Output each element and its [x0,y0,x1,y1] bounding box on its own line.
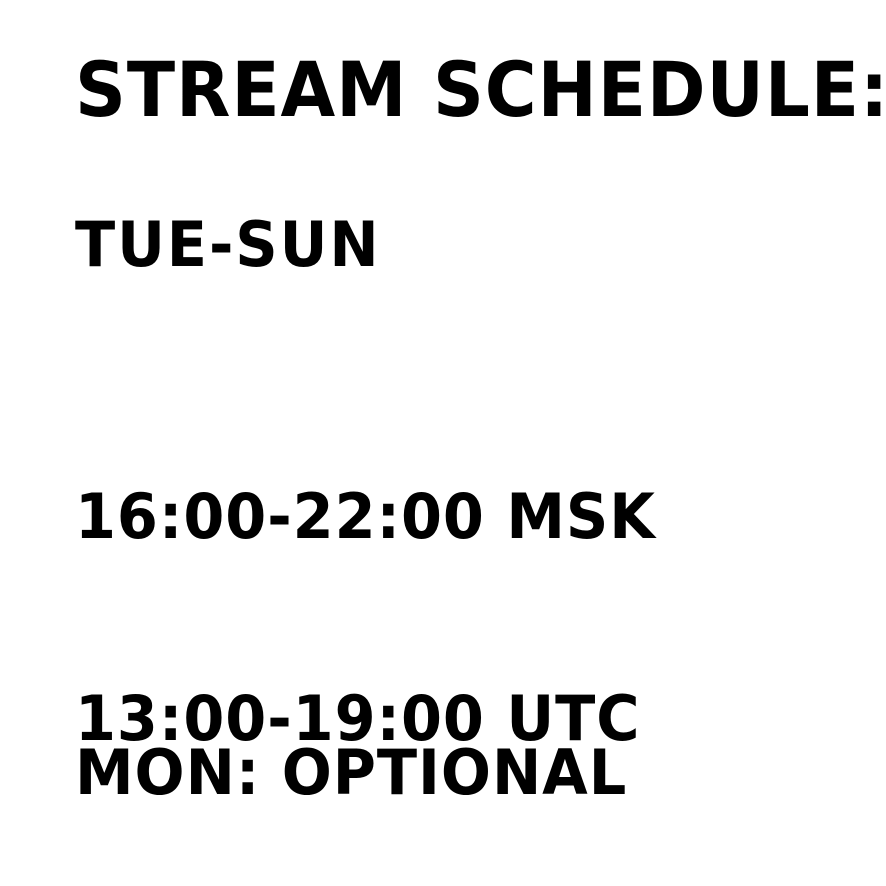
page-title: STREAM SCHEDULE: [75,52,886,128]
stream-schedule-card: STREAM SCHEDULE: TUE-SUN 16:00-22:00 MSK… [0,0,886,886]
schedule-footer-note: MON: OPTIONAL [75,742,627,804]
schedule-time-row: 16:00-22:00 MSK [75,484,758,562]
schedule-days: TUE-SUN [75,214,381,276]
